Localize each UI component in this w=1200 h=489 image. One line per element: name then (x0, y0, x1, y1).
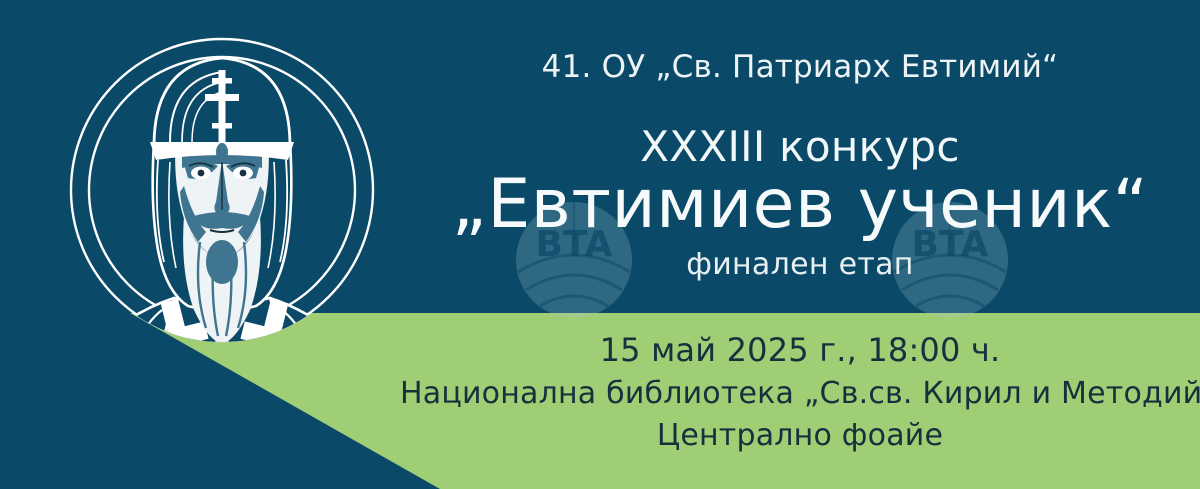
portrait-figure (100, 58, 344, 390)
contest-number-line: XXXIII конкурс (400, 126, 1200, 168)
pupil-left (198, 170, 205, 177)
drape-line-right-inner (302, 328, 318, 390)
pupil-right (240, 170, 247, 177)
drape-line-left-inner (126, 328, 142, 390)
event-venue-line: Национална библиотека „Св.св. Кирил и Ме… (400, 379, 1200, 409)
saint-patriarch-evtimiy-portrait (42, 10, 402, 390)
contest-title: „Евтимиев ученик“ (400, 171, 1200, 239)
organizer-line: 41. ОУ „Св. Патриарх Евтимий“ (400, 52, 1200, 83)
event-datetime-line: 15 май 2025 г., 18:00 ч. (400, 334, 1200, 366)
poster-text-column: 41. ОУ „Св. Патриарх Евтимий“ XXXIII кон… (400, 0, 1200, 489)
poster-canvas: BTA BTA 41. ОУ „Св. Патриарх Евтимий“ XX… (0, 0, 1200, 489)
beard-center-shadow (206, 240, 238, 284)
event-venue-detail: Централно фоайе (400, 421, 1200, 451)
forehead-ornament (216, 143, 228, 161)
contest-stage-line: финален етап (400, 250, 1200, 280)
